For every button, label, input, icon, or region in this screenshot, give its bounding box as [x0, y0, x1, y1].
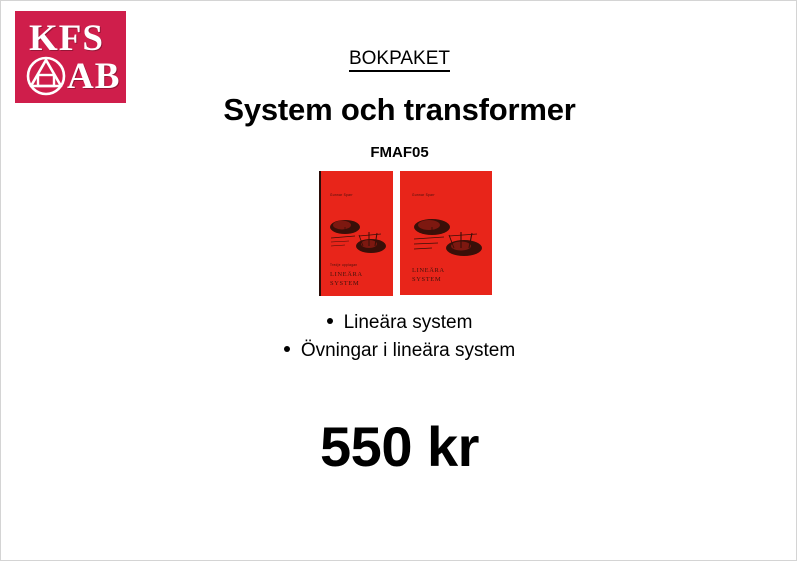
book-cover-title-line2: SYSTEM [412, 276, 441, 283]
book-cover-artwork-icon [325, 214, 391, 256]
book-cover-title: LINEÄRA SYSTEM [330, 271, 363, 289]
bullet-dot-icon [284, 346, 290, 352]
list-item: Lineära system [1, 309, 797, 337]
page-kicker: BOKPAKET [1, 48, 797, 70]
price-label: 550 kr [1, 414, 797, 479]
book-cover-author: Gunnar Sparr [412, 193, 435, 197]
bokpaket-page: KFS AB BOKPAKET System och transformer F… [0, 0, 797, 561]
book-cover-title-line1: LINEÄRA [412, 267, 445, 274]
list-item-label: Lineära system [344, 312, 473, 333]
book-cover-group: Gunnar Sparr Tredje upplagan [319, 171, 495, 297]
book-cover-author: Gunnar Sparr [330, 193, 353, 197]
bullet-dot-icon [327, 318, 333, 324]
book-cover-title-line1: LINEÄRA [330, 271, 363, 278]
page-title: System och transformer [1, 92, 797, 128]
list-item-label: Övningar i lineära system [301, 340, 515, 361]
book-cover-lineara-system: Gunnar Sparr Tredje upplagan [319, 171, 393, 296]
list-item: Övningar i lineära system [1, 337, 797, 365]
book-cover-ovningar-i-lineara-system: Gunnar Sparr LINEÄRA [400, 171, 492, 295]
book-cover-artwork-icon [406, 213, 490, 259]
kicker-text: BOKPAKET [349, 48, 450, 72]
book-cover-title: LINEÄRA SYSTEM [412, 267, 445, 285]
course-code: FMAF05 [1, 144, 797, 161]
package-contents-list: Lineära system Övningar i lineära system [1, 309, 797, 364]
book-cover-title-line2: SYSTEM [330, 280, 359, 287]
book-cover-subtitle: Tredje upplagan [330, 263, 357, 267]
